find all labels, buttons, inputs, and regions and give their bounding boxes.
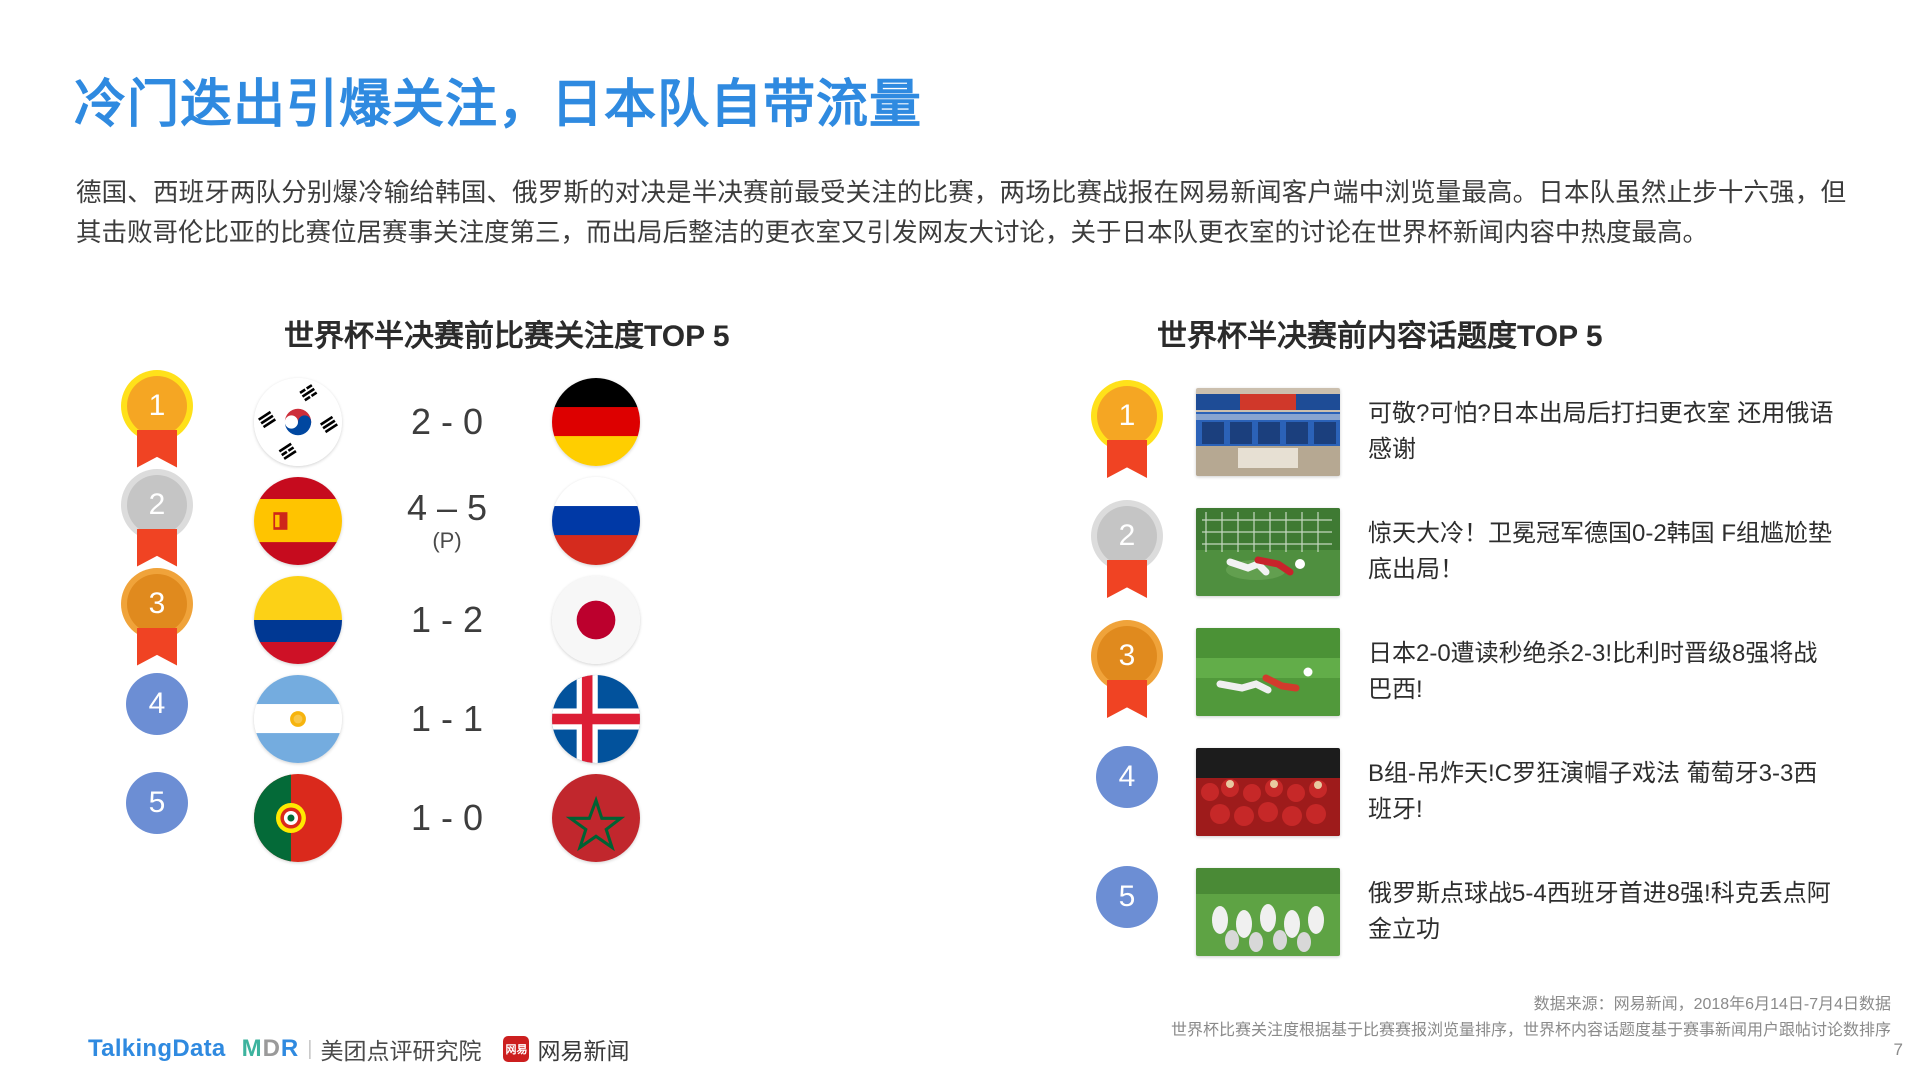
slide-root: 冷门迭出引爆关注，日本队自带流量 德国、西班牙两队分别爆冷输给韩国、俄罗斯的对决… <box>0 0 1921 1080</box>
ribbon-icon <box>1107 440 1147 478</box>
germany-flag-icon <box>552 378 640 466</box>
rank-number: 4 <box>126 673 188 735</box>
table-row[interactable]: 2 4 – 5(P) <box>120 471 920 570</box>
colombia-flag-icon <box>254 576 342 664</box>
news-headline[interactable]: 可敬?可怕?日本出局后打扫更衣室 还用俄语感谢 <box>1368 396 1838 468</box>
footer-logos: TalkingData MDR | 美团点评研究院 网易 网易新闻 <box>88 1032 629 1066</box>
rank-number: 2 <box>127 475 187 535</box>
list-item[interactable]: 5 俄罗斯点球战5-4西班牙首进8强!科克丢点阿金立功 <box>1090 852 1880 972</box>
morocco-flag-icon <box>552 774 640 862</box>
rank-badge-3: 3 <box>120 574 194 666</box>
ribbon-icon <box>137 529 177 567</box>
match-score: 1 - 2 <box>342 601 552 639</box>
ribbon-icon <box>1107 680 1147 718</box>
list-item[interactable]: 1 可敬?可怕?日本出局后打扫更衣室 还用俄语感谢 <box>1090 372 1880 492</box>
match-score: 1 - 1 <box>342 700 552 738</box>
rank-badge-news-3: 3 <box>1090 626 1164 718</box>
match-score: 2 - 0 <box>342 403 552 441</box>
intro-paragraph: 德国、西班牙两队分别爆冷输给韩国、俄罗斯的对决是半决赛前最受关注的比赛，两场比赛… <box>76 173 1846 253</box>
right-section-title: 世界杯半决赛前内容话题度TOP 5 <box>1157 311 1603 355</box>
data-source-note: 数据来源：网易新闻，2018年6月14日-7月4日数据 世界杯比赛关注度根据基于… <box>1171 992 1891 1044</box>
goal-save-photo <box>1196 508 1340 596</box>
match-score: 1 - 0 <box>342 799 552 837</box>
list-item[interactable]: 4 B组-吊炸天!C罗狂演帽子戏法 葡萄牙3-3西班牙! <box>1090 732 1880 852</box>
rank-number: 2 <box>1097 506 1157 566</box>
rank-badge-news-5: 5 <box>1090 866 1164 958</box>
match-score: 4 – 5(P) <box>342 489 552 552</box>
red-crowd-photo <box>1196 748 1340 836</box>
page-title: 冷门迭出引爆关注，日本队自带流量 <box>74 62 922 137</box>
meituan-research-logo: 美团点评研究院 <box>320 1032 481 1066</box>
rank-badge-1: 1 <box>120 376 194 468</box>
talkingdata-logo: TalkingData <box>88 1035 226 1063</box>
table-row[interactable]: 3 1 - 2 <box>120 570 920 669</box>
penalty-note: (P) <box>342 529 552 552</box>
rank-number: 5 <box>126 772 188 834</box>
news-headline[interactable]: 俄罗斯点球战5-4西班牙首进8强!科克丢点阿金立功 <box>1368 876 1838 948</box>
rank-badge-4: 4 <box>120 673 194 765</box>
argentina-flag-icon <box>254 675 342 763</box>
rank-badge-2: 2 <box>120 475 194 567</box>
rank-badge-5: 5 <box>120 772 194 864</box>
celebration-photo <box>1196 868 1340 956</box>
page-number: 7 <box>1894 1040 1903 1060</box>
locker-room-photo <box>1196 388 1340 476</box>
table-row[interactable]: 1 2 - 0 <box>120 372 920 471</box>
list-item[interactable]: 2 惊天大冷！卫冕冠军德国0-2韩国 F组尴尬垫底出局！ <box>1090 492 1880 612</box>
south-korea-flag-icon <box>254 378 342 466</box>
table-row[interactable]: 5 1 - 0 <box>120 768 920 867</box>
news-headline[interactable]: B组-吊炸天!C罗狂演帽子戏法 葡萄牙3-3西班牙! <box>1368 756 1838 828</box>
source-line-2: 世界杯比赛关注度根据基于比赛赛报浏览量排序，世界杯内容话题度基于赛事新闻用户跟帖… <box>1171 1018 1891 1044</box>
mdr-logo: MDR <box>242 1035 300 1063</box>
news-headline[interactable]: 日本2-0遭读秒绝杀2-3!比利时晋级8强将战巴西! <box>1368 636 1838 708</box>
ribbon-icon <box>137 628 177 666</box>
iceland-flag-icon <box>552 675 640 763</box>
news-headline[interactable]: 惊天大冷！卫冕冠军德国0-2韩国 F组尴尬垫底出局！ <box>1368 516 1838 588</box>
left-section-title: 世界杯半决赛前比赛关注度TOP 5 <box>284 311 730 355</box>
rank-badge-news-1: 1 <box>1090 386 1164 478</box>
netease-news-logo: 网易 网易新闻 <box>503 1032 629 1066</box>
rank-number: 3 <box>1097 626 1157 686</box>
pitch-players-photo <box>1196 628 1340 716</box>
netease-badge-icon: 网易 <box>503 1036 529 1062</box>
ribbon-icon <box>137 430 177 468</box>
list-item[interactable]: 3 日本2-0遭读秒绝杀2-3!比利时晋级8强将战巴西! <box>1090 612 1880 732</box>
netease-news-label: 网易新闻 <box>537 1032 629 1066</box>
news-ranking-list: 1 可敬?可怕?日本出局后打扫更衣室 还用俄语感谢 2 惊天大冷！卫冕冠军德国0… <box>1090 372 1880 972</box>
portugal-flag-icon <box>254 774 342 862</box>
spain-flag-icon <box>254 477 342 565</box>
match-ranking-list: 1 2 - 0 2 4 – 5(P) 3 <box>120 372 920 867</box>
russia-flag-icon <box>552 477 640 565</box>
rank-number: 3 <box>127 574 187 634</box>
logo-divider: | <box>307 1038 312 1061</box>
rank-number: 4 <box>1096 746 1158 808</box>
rank-number: 1 <box>127 376 187 436</box>
rank-badge-news-4: 4 <box>1090 746 1164 838</box>
source-line-1: 数据来源：网易新闻，2018年6月14日-7月4日数据 <box>1171 992 1891 1018</box>
ribbon-icon <box>1107 560 1147 598</box>
japan-flag-icon <box>552 576 640 664</box>
rank-badge-news-2: 2 <box>1090 506 1164 598</box>
rank-number: 1 <box>1097 386 1157 446</box>
table-row[interactable]: 4 1 - 1 <box>120 669 920 768</box>
rank-number: 5 <box>1096 866 1158 928</box>
